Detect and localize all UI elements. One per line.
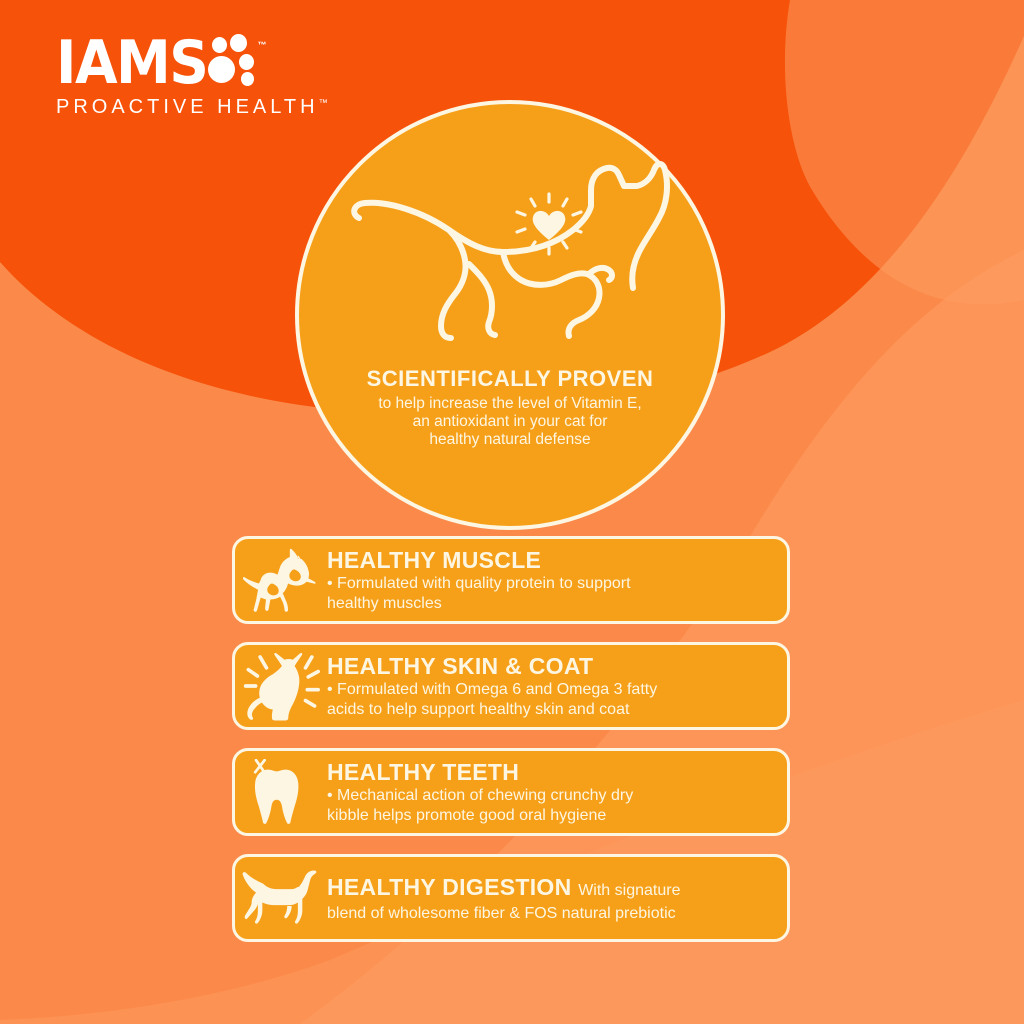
feature-card-healthy-teeth[interactable]: HEALTHY TEETH • Mechanical action of che… — [232, 748, 790, 836]
feature-card-text: HEALTHY MUSCLE • Formulated with quality… — [327, 547, 787, 613]
sparkling-tooth-icon — [235, 753, 327, 831]
feature-card-desc-line-2: healthy muscles — [327, 594, 769, 613]
feature-card-desc-line-2: acids to help support healthy skin and c… — [327, 700, 769, 719]
logo-row: IAMS ™ — [56, 34, 316, 92]
brand-tagline-text: PROACTIVE HEALTH — [56, 96, 319, 118]
badge-body: to help increase the level of Vitamin E,… — [378, 395, 641, 449]
iams-proactive-health-poster: IAMS ™ PROACTIVE HEALTH™ — [0, 0, 1024, 1024]
walking-cat-with-heart-icon — [345, 156, 675, 346]
feature-card-text: HEALTHY DIGESTION With signature blend o… — [327, 874, 787, 923]
brand-wordmark: IAMS — [56, 34, 207, 92]
feature-card-healthy-skin-and-coat[interactable]: HEALTHY SKIN & COAT • Formulated with Om… — [232, 642, 790, 730]
feature-card-title: HEALTHY TEETH — [327, 759, 769, 785]
badge-body-line-1: to help increase the level of Vitamin E, — [378, 395, 641, 413]
badge-headline: SCIENTIFICALLY PROVEN — [367, 366, 654, 392]
feature-card-desc-line-1: • Formulated with Omega 6 and Omega 3 fa… — [327, 680, 769, 699]
feature-card-text: HEALTHY TEETH • Mechanical action of che… — [327, 759, 787, 825]
feature-card-healthy-digestion[interactable]: HEALTHY DIGESTION With signature blend o… — [232, 854, 790, 942]
feature-card-title: HEALTHY SKIN & COAT — [327, 653, 769, 679]
paw-print-icon: ™ — [208, 34, 260, 92]
brand-tagline: PROACTIVE HEALTH™ — [56, 96, 316, 119]
feature-card-text: HEALTHY SKIN & COAT • Formulated with Om… — [327, 653, 787, 719]
feature-card-title: HEALTHY DIGESTION With signature — [327, 874, 769, 904]
brand-logo: IAMS ™ PROACTIVE HEALTH™ — [56, 34, 316, 119]
walking-cat-icon — [235, 859, 327, 937]
badge-body-line-2: an antioxidant in your cat for — [378, 413, 641, 431]
feature-card-desc-line-2: blend of wholesome fiber & FOS natural p… — [327, 904, 769, 923]
feature-card-list: HEALTHY MUSCLE • Formulated with quality… — [232, 536, 790, 960]
shining-sitting-cat-icon — [235, 647, 327, 725]
feature-card-healthy-muscle[interactable]: HEALTHY MUSCLE • Formulated with quality… — [232, 536, 790, 624]
badge-body-line-3: healthy natural defense — [378, 431, 641, 449]
feature-card-inline-desc: With signature — [578, 882, 680, 899]
feature-card-title-text: HEALTHY DIGESTION — [327, 874, 572, 900]
scientifically-proven-badge: SCIENTIFICALLY PROVEN to help increase t… — [295, 100, 725, 530]
jumping-cat-icon — [235, 541, 327, 619]
trademark-symbol-top: ™ — [257, 40, 266, 50]
trademark-symbol-sub: ™ — [319, 97, 328, 107]
feature-card-title: HEALTHY MUSCLE — [327, 547, 769, 573]
feature-card-desc-line-1: • Formulated with quality protein to sup… — [327, 574, 769, 593]
feature-card-desc-line-1: • Mechanical action of chewing crunchy d… — [327, 786, 769, 805]
feature-card-desc-line-2: kibble helps promote good oral hygiene — [327, 806, 769, 825]
